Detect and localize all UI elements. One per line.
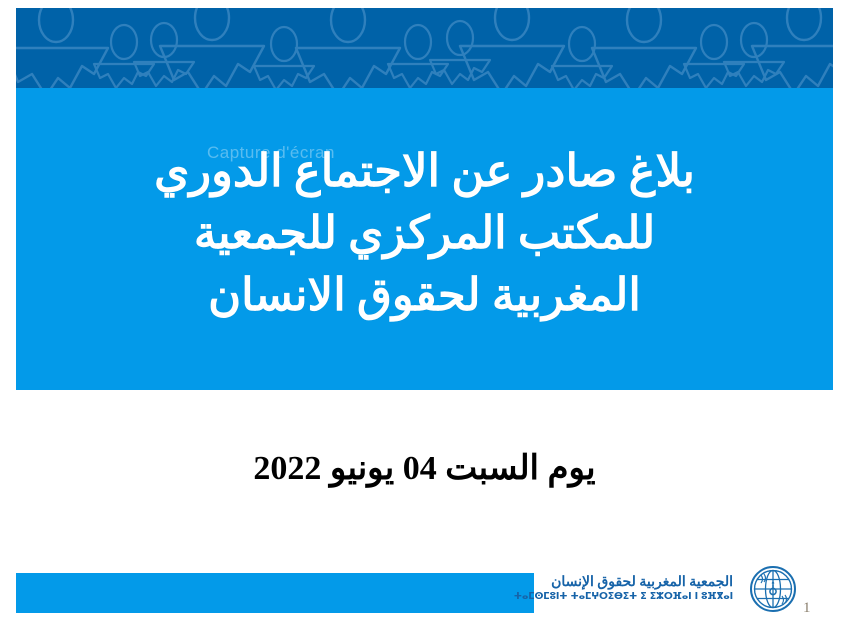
logo-name-arabic: الجمعية المغربية لحقوق الإنسان (551, 575, 733, 591)
page-title: بلاغ صادر عن الاجتماع الدوري للمكتب المر… (80, 140, 770, 338)
title-panel: بلاغ صادر عن الاجتماع الدوري للمكتب المر… (16, 88, 833, 390)
slide-number: 1 (803, 601, 811, 616)
organization-logo: الجمعية المغربية لحقوق الإنسان ⵜⴰⵎⵙⵎⵓⵏⵜ … (551, 558, 796, 620)
people-pattern-icon (16, 8, 833, 88)
footer-bar (16, 573, 534, 613)
decorative-banner (16, 8, 833, 88)
logo-wordmark: الجمعية المغربية لحقوق الإنسان ⵜⴰⵎⵙⵎⵓⵏⵜ … (551, 575, 735, 603)
logo-name-tifinagh: ⵜⴰⵎⵙⵎⵓⵏⵜ ⵜⴰⵎⵖⵔⵉⴱⵉⵜ ⵉ ⵉⵣⵔⴼⴰⵏ ⵏ ⵓⴼⴳⴰⵏ (551, 592, 733, 602)
date-subtitle: يوم السبت 04 يونيو 2022 (0, 448, 849, 488)
slide-canvas: بلاغ صادر عن الاجتماع الدوري للمكتب المر… (0, 0, 849, 631)
title-line-2: للمكتب المركزي للجمعية (80, 202, 770, 264)
globe-icon (749, 565, 797, 613)
title-line-3: المغربية لحقوق الانسان (80, 264, 770, 326)
title-line-1: بلاغ صادر عن الاجتماع الدوري (80, 140, 770, 202)
